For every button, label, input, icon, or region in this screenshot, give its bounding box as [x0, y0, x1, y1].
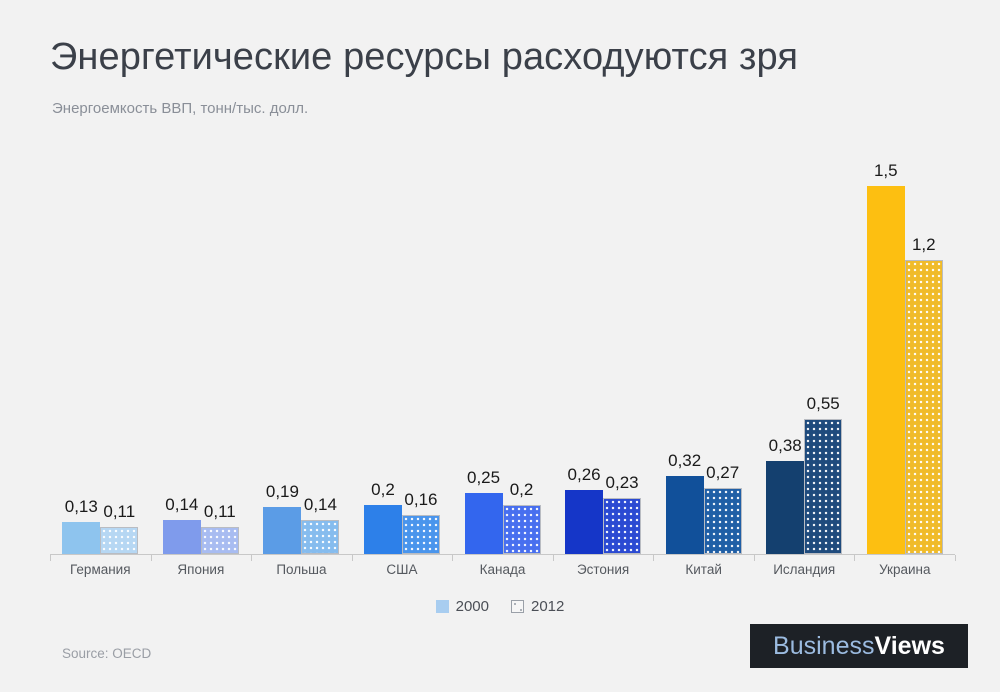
bar-value-label: 0,14	[165, 496, 198, 513]
source-note: Source: OECD	[62, 646, 151, 661]
bar-value-label: 0,11	[204, 503, 236, 520]
bar-2000[interactable]	[364, 505, 402, 554]
axis-tick	[251, 555, 252, 561]
bar-2000[interactable]	[465, 493, 503, 554]
category-label: Канада	[452, 562, 553, 577]
axis-tick	[754, 555, 755, 561]
bar-2000[interactable]	[666, 476, 704, 554]
bar-group: 0,320,27	[653, 130, 754, 554]
axis-tick	[653, 555, 654, 561]
logo-text: BusinessViews	[773, 634, 945, 659]
bar-column: 0,11	[100, 527, 138, 554]
legend-swatch-icon	[511, 600, 524, 613]
bar-2000[interactable]	[62, 522, 100, 554]
axis-tick	[553, 555, 554, 561]
bar-2012[interactable]	[603, 498, 641, 554]
bar-column: 0,38	[766, 461, 804, 554]
bar-groups: 0,130,110,140,110,190,140,20,160,250,20,…	[50, 130, 955, 554]
bar-column: 0,23	[603, 498, 641, 554]
bar-group: 0,260,23	[553, 130, 654, 554]
bar-2000[interactable]	[163, 520, 201, 554]
bar-value-label: 0,19	[266, 483, 299, 500]
bar-column: 0,32	[666, 476, 704, 554]
category-label: Эстония	[553, 562, 654, 577]
bar-value-label: 0,11	[103, 503, 135, 520]
bar-group: 0,190,14	[251, 130, 352, 554]
bar-column: 1,5	[867, 186, 905, 554]
bar-column: 0,11	[201, 527, 239, 554]
bar-group: 0,250,2	[452, 130, 553, 554]
bar-group: 1,51,2	[855, 130, 956, 554]
bar-2012[interactable]	[905, 260, 943, 554]
bar-2012[interactable]	[201, 527, 239, 554]
bar-value-label: 0,27	[706, 464, 739, 481]
bar-group: 0,380,55	[754, 130, 855, 554]
bar-column: 1,2	[905, 260, 943, 554]
bar-2000[interactable]	[263, 507, 301, 554]
bar-2012[interactable]	[704, 488, 742, 554]
bar-value-label: 0,25	[467, 469, 500, 486]
x-axis-line	[50, 554, 955, 555]
category-label: Исландия	[754, 562, 855, 577]
bar-2012[interactable]	[402, 515, 440, 554]
bar-value-label: 0,32	[668, 452, 701, 469]
bar-value-label: 0,16	[404, 491, 437, 508]
category-label-row: ГерманияЯпонияПольшаСШАКанадаЭстонияКита…	[50, 562, 955, 577]
bar-2012[interactable]	[301, 520, 339, 554]
infographic-canvas: Энергетические ресурсы расходуются зря Э…	[0, 0, 1000, 692]
bar-pair: 0,130,11	[62, 522, 138, 554]
bar-pair: 0,260,23	[565, 490, 641, 554]
bar-value-label: 0,2	[371, 481, 395, 498]
legend-item-2012[interactable]: 2012	[511, 598, 564, 615]
bar-value-label: 0,26	[568, 466, 601, 483]
category-label: Япония	[151, 562, 252, 577]
bar-column: 0,55	[804, 419, 842, 554]
bar-2000[interactable]	[565, 490, 603, 554]
category-label: Германия	[50, 562, 151, 577]
bar-2000[interactable]	[766, 461, 804, 554]
bar-pair: 0,190,14	[263, 507, 339, 554]
category-label: Украина	[855, 562, 956, 577]
bar-pair: 0,20,16	[364, 505, 440, 554]
page-title: Энергетические ресурсы расходуются зря	[50, 36, 798, 79]
bar-column: 0,2	[503, 505, 541, 554]
legend-label: 2000	[456, 598, 489, 615]
bar-value-label: 1,5	[874, 162, 898, 179]
bar-value-label: 0,14	[304, 496, 337, 513]
axis-tick	[151, 555, 152, 561]
chart-legend: 20002012	[0, 598, 1000, 615]
bar-pair: 0,140,11	[163, 520, 239, 554]
bar-pair: 1,51,2	[867, 186, 943, 554]
category-label: Китай	[653, 562, 754, 577]
bar-value-label: 0,13	[65, 498, 98, 515]
bar-value-label: 0,55	[807, 395, 840, 412]
businessviews-logo: BusinessViews	[750, 624, 968, 668]
bar-2012[interactable]	[503, 505, 541, 554]
chart-plot-area: 0,130,110,140,110,190,140,20,160,250,20,…	[50, 130, 955, 555]
bar-value-label: 0,2	[510, 481, 534, 498]
bar-group: 0,20,16	[352, 130, 453, 554]
bar-pair: 0,380,55	[766, 419, 842, 554]
bar-column: 0,2	[364, 505, 402, 554]
bar-column: 0,19	[263, 507, 301, 554]
bar-group: 0,130,11	[50, 130, 151, 554]
bar-column: 0,14	[301, 520, 339, 554]
legend-label: 2012	[531, 598, 564, 615]
bar-column: 0,14	[163, 520, 201, 554]
bar-value-label: 1,2	[912, 236, 936, 253]
bar-column: 0,27	[704, 488, 742, 554]
bar-pair: 0,320,27	[666, 476, 742, 554]
category-label: Польша	[251, 562, 352, 577]
logo-business-text: Business	[773, 632, 874, 660]
chart-subtitle: Энергоемкость ВВП, тонн/тыс. долл.	[52, 100, 308, 117]
bar-column: 0,16	[402, 515, 440, 554]
legend-item-2000[interactable]: 2000	[436, 598, 489, 615]
bar-2012[interactable]	[804, 419, 842, 554]
bar-value-label: 0,23	[606, 474, 639, 491]
logo-views-text: Views	[875, 632, 945, 660]
axis-tick	[854, 555, 855, 561]
axis-tick	[955, 555, 956, 561]
bar-value-label: 0,38	[769, 437, 802, 454]
axis-tick	[352, 555, 353, 561]
bar-2012[interactable]	[100, 527, 138, 554]
bar-2000[interactable]	[867, 186, 905, 554]
bar-column: 0,26	[565, 490, 603, 554]
category-label: США	[352, 562, 453, 577]
bar-pair: 0,250,2	[465, 493, 541, 554]
legend-swatch-icon	[436, 600, 449, 613]
bar-column: 0,13	[62, 522, 100, 554]
axis-tick	[452, 555, 453, 561]
bar-column: 0,25	[465, 493, 503, 554]
bar-group: 0,140,11	[151, 130, 252, 554]
axis-tick	[50, 555, 51, 561]
